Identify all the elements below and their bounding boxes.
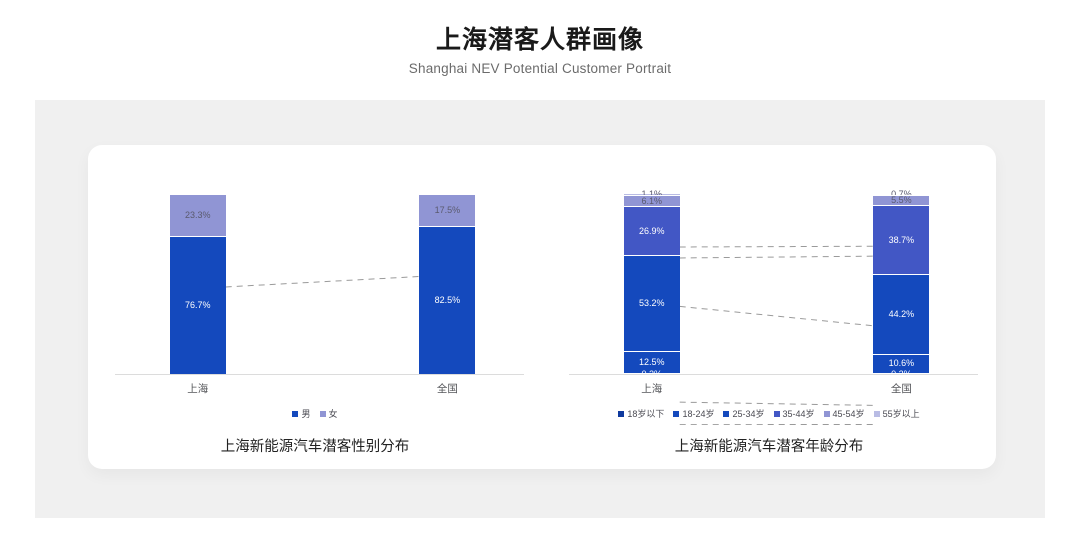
connector-line [680, 402, 874, 405]
legend-item[interactable]: 55岁以上 [874, 407, 920, 420]
legend-label: 55岁以上 [883, 407, 920, 420]
legend-item[interactable]: 18岁以下 [618, 407, 664, 420]
legend-item[interactable]: 男 [292, 407, 310, 420]
caption-gender: 上海新能源汽车潜客性别分布 [88, 435, 542, 456]
charts-container: 23.3%76.7% 17.5%82.5% 上海 全国 男女 上海新能源汽车潜客… [88, 145, 996, 469]
legend-swatch-icon [292, 411, 298, 417]
legend-swatch-icon [673, 411, 679, 417]
legend-item[interactable]: 45-54岁 [824, 407, 865, 420]
x-label-shanghai: 上海 [617, 381, 687, 396]
legend-swatch-icon [824, 411, 830, 417]
segment-value-label: 5.5% [891, 196, 912, 205]
bar-age-national[interactable]: 0.7%5.5%38.7%44.2%10.6%0.2% [873, 194, 929, 374]
legend-item[interactable]: 35-44岁 [774, 407, 815, 420]
legend-label: 18岁以下 [627, 407, 664, 420]
page-subtitle: Shanghai NEV Potential Customer Portrait [0, 55, 1080, 76]
legend-swatch-icon [774, 411, 780, 417]
bar-segment[interactable]: 17.5% [419, 194, 475, 226]
legend-swatch-icon [618, 411, 624, 417]
segment-value-label: 53.2% [639, 299, 665, 308]
x-label-national: 全国 [866, 381, 936, 396]
legend-swatch-icon [874, 411, 880, 417]
bar-segment[interactable]: 10.6% [873, 354, 929, 373]
bar-segment[interactable]: 26.9% [624, 206, 680, 254]
legend-swatch-icon [320, 411, 326, 417]
plot-area-gender: 23.3%76.7% 17.5%82.5% [88, 195, 542, 375]
bar-gender-shanghai[interactable]: 23.3%76.7% [170, 194, 226, 374]
axis-line-age [569, 374, 978, 375]
connector-line [226, 277, 420, 287]
bar-segment[interactable]: 38.7% [873, 205, 929, 275]
legend-swatch-icon [723, 411, 729, 417]
plot-area-age: 1.1%6.1%26.9%53.2%12.5%0.2% 0.7%5.5%38.7… [542, 195, 996, 375]
legend-label: 男 [301, 407, 310, 420]
segment-value-label: 26.9% [639, 227, 665, 236]
bar-segment[interactable]: 53.2% [624, 255, 680, 351]
bar-age-shanghai[interactable]: 1.1%6.1%26.9%53.2%12.5%0.2% [624, 193, 680, 374]
segment-value-label: 23.3% [185, 211, 211, 220]
legend-gender: 男女 [88, 407, 542, 420]
legend-item[interactable]: 18-24岁 [673, 407, 714, 420]
chart-age-distribution: 1.1%6.1%26.9%53.2%12.5%0.2% 0.7%5.5%38.7… [542, 145, 996, 469]
segment-value-label: 10.6% [889, 359, 915, 368]
legend-age: 18岁以下18-24岁25-34岁35-44岁45-54岁55岁以上 [542, 407, 996, 420]
legend-label: 45-54岁 [833, 407, 865, 420]
bar-segment[interactable]: 44.2% [873, 274, 929, 354]
connector-line [680, 246, 874, 247]
legend-label: 女 [329, 407, 338, 420]
x-label-national: 全国 [412, 381, 482, 396]
legend-label: 18-24岁 [682, 407, 714, 420]
x-axis-labels-age: 上海 全国 [542, 381, 996, 397]
bar-segment[interactable]: 6.1% [624, 195, 680, 206]
segment-value-label: 76.7% [185, 301, 211, 310]
bar-segment[interactable]: 5.5% [873, 195, 929, 205]
caption-age: 上海新能源汽车潜客年龄分布 [542, 435, 996, 456]
segment-value-label: 12.5% [639, 358, 665, 367]
segment-value-label: 6.1% [641, 197, 662, 206]
x-label-shanghai: 上海 [163, 381, 233, 396]
segment-value-label: 82.5% [435, 296, 461, 305]
connector-line [680, 256, 874, 258]
legend-item[interactable]: 女 [320, 407, 338, 420]
legend-label: 25-34岁 [732, 407, 764, 420]
connector-line [680, 306, 874, 325]
x-axis-labels-gender: 上海 全国 [88, 381, 542, 397]
segment-value-label: 17.5% [435, 206, 461, 215]
segment-value-label: 38.7% [889, 236, 915, 245]
page-header: 上海潜客人群画像 Shanghai NEV Potential Customer… [0, 0, 1080, 76]
legend-item[interactable]: 25-34岁 [723, 407, 764, 420]
bar-segment[interactable]: 76.7% [170, 236, 226, 374]
bar-segment[interactable]: 23.3% [170, 194, 226, 236]
legend-label: 35-44岁 [783, 407, 815, 420]
bar-segment[interactable]: 82.5% [419, 226, 475, 375]
bar-segment[interactable]: 12.5% [624, 351, 680, 374]
chart-gender-distribution: 23.3%76.7% 17.5%82.5% 上海 全国 男女 上海新能源汽车潜客… [88, 145, 542, 469]
bar-gender-national[interactable]: 17.5%82.5% [419, 194, 475, 374]
segment-value-label: 44.2% [889, 310, 915, 319]
page-title: 上海潜客人群画像 [0, 0, 1080, 55]
axis-line-gender [115, 374, 524, 375]
